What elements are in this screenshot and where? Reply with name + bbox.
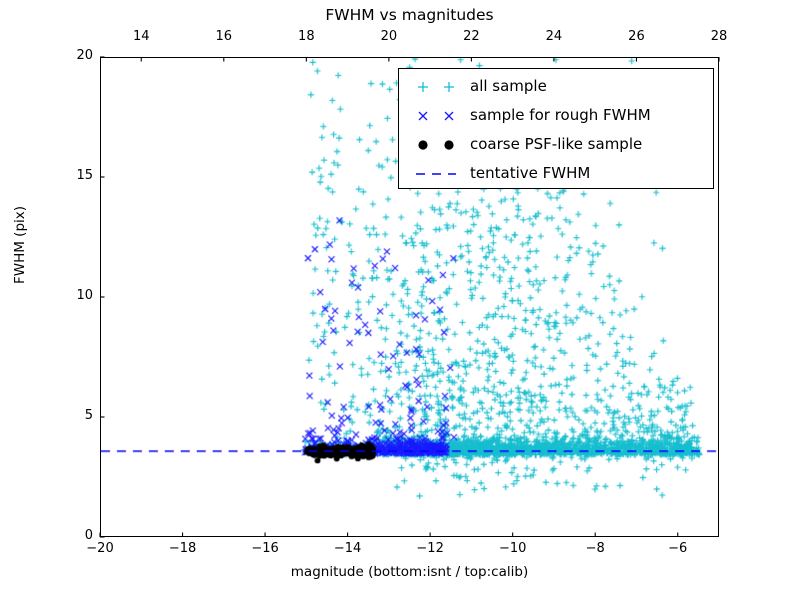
x-tick-label-top: 26 [628, 29, 645, 44]
x-tick-label-bottom: −6 [668, 541, 687, 556]
chart-legend: all sample sample for rough FWHM c [398, 68, 714, 189]
x-tick-label-bottom: −10 [499, 541, 526, 556]
y-tick-label: 0 [0, 528, 93, 543]
legend-label-tentative-fwhm: tentative FWHM [468, 166, 590, 181]
figure-canvas: FWHM vs magnitudes −20−18−16−14−12−10−8−… [0, 0, 800, 600]
legend-item-tentative-fwhm: tentative FWHM [399, 159, 713, 188]
legend-item-all-sample: all sample [399, 72, 713, 101]
x-tick-label-bottom: −18 [169, 541, 196, 556]
cross-marker-icon [406, 105, 468, 127]
legend-item-coarse-psf: coarse PSF-like sample [399, 130, 713, 159]
x-tick-label-top: 22 [463, 29, 480, 44]
x-axis-label: magnitude (bottom:isnt / top:calib) [100, 564, 719, 580]
dashed-line-marker-icon [406, 163, 468, 185]
x-tick-label-bottom: −20 [86, 541, 113, 556]
plus-marker-icon [406, 76, 468, 98]
x-tick-label-top: 16 [216, 29, 233, 44]
chart-title: FWHM vs magnitudes [100, 6, 719, 24]
x-tick-label-bottom: −14 [334, 541, 361, 556]
x-tick-label-top: 18 [298, 29, 315, 44]
legend-item-rough-fwhm: sample for rough FWHM [399, 101, 713, 130]
x-tick-label-bottom: −16 [251, 541, 278, 556]
x-tick-label-top: 28 [711, 29, 728, 44]
legend-label-coarse-psf: coarse PSF-like sample [468, 137, 642, 152]
x-tick-label-top: 24 [546, 29, 563, 44]
y-axis-label: FWHM (pix) [12, 165, 28, 325]
y-tick-label: 5 [0, 408, 93, 423]
y-tick-label: 20 [0, 48, 93, 63]
legend-label-all-sample: all sample [468, 79, 547, 94]
x-tick-label-top: 20 [381, 29, 398, 44]
x-tick-label-bottom: −12 [416, 541, 443, 556]
dot-marker-icon [406, 134, 468, 156]
x-tick-label-top: 14 [133, 29, 150, 44]
x-tick-label-bottom: −8 [586, 541, 605, 556]
legend-label-rough-fwhm: sample for rough FWHM [468, 108, 651, 123]
